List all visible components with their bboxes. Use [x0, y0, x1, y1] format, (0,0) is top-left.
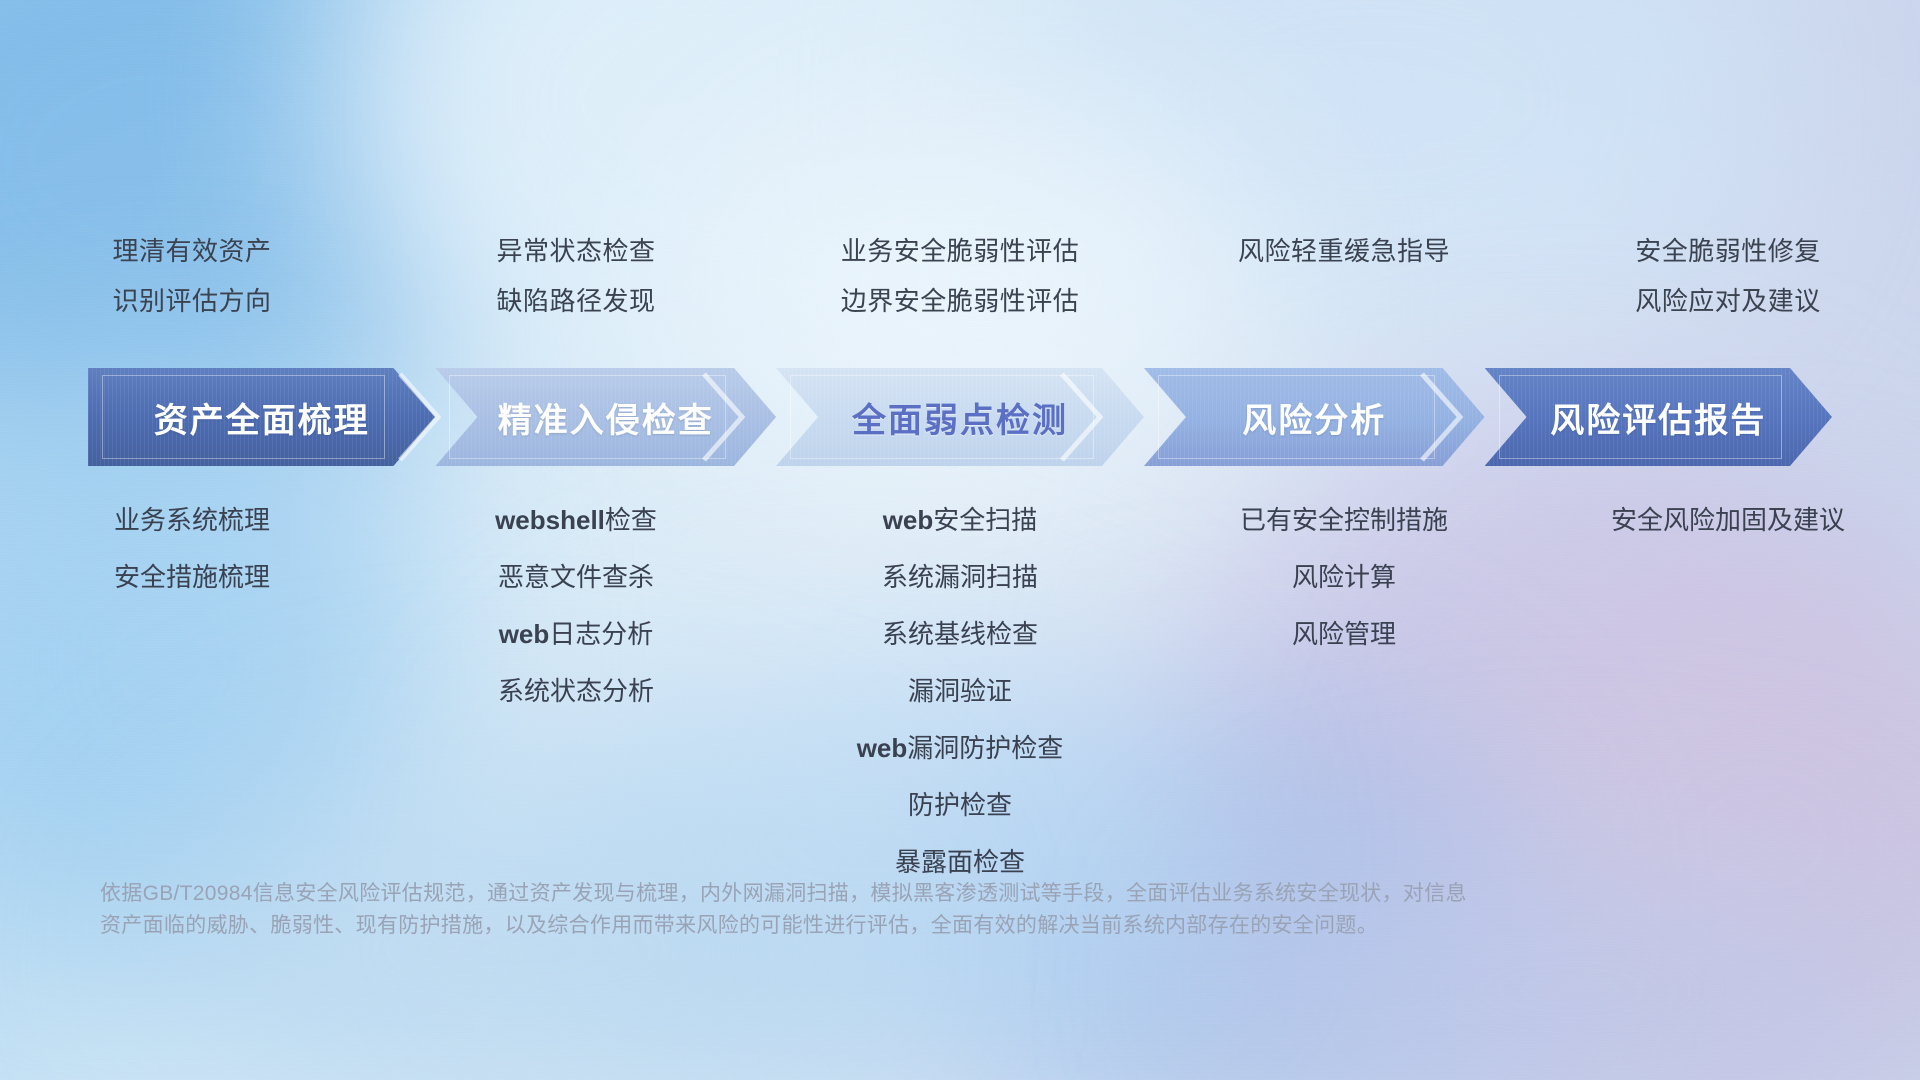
top-point: 异常状态检查 — [384, 226, 768, 276]
stage-arrow-intrusion-check[interactable]: 精准入侵检查 — [435, 368, 776, 466]
bottom-point-text: 安全扫描 — [933, 505, 1037, 535]
top-point: 业务安全脆弱性评估 — [768, 226, 1152, 276]
footer-description: 依据GB/T20984信息安全风险评估规范，通过资产发现与梳理，内外网漏洞扫描，… — [100, 878, 1820, 942]
bottom-point: 漏洞验证 — [768, 671, 1152, 711]
bottom-point: 风险计算 — [1152, 557, 1536, 597]
top-point: 边界安全脆弱性评估 — [768, 276, 1152, 326]
bottom-point: 安全措施梳理 — [0, 557, 384, 597]
top-point: 风险轻重缓急指导 — [1152, 226, 1536, 276]
bottom-point-text: 检查 — [605, 505, 657, 535]
stage-label: 资产全面梳理 — [154, 393, 370, 442]
top-point: 理清有效资产 — [0, 226, 384, 276]
bottom-point: webshell检查 — [384, 500, 768, 540]
bottom-point-text: 系统状态分析 — [498, 676, 654, 706]
bottom-point-text: 已有安全控制措施 — [1240, 505, 1448, 535]
bottom-descriptors-intrusion-check: webshell检查 恶意文件查杀 web日志分析 系统状态分析 — [384, 500, 768, 899]
bottom-point: 防护检查 — [768, 785, 1152, 825]
top-descriptor-row: 理清有效资产 识别评估方向 异常状态检查 缺陷路径发现 业务安全脆弱性评估 边界… — [0, 226, 1920, 326]
bottom-point-text: 漏洞防护检查 — [907, 733, 1063, 763]
bottom-point: 系统基线检查 — [768, 614, 1152, 654]
bottom-point: 业务系统梳理 — [0, 500, 384, 540]
stage-arrow-weakness-detection[interactable]: 全面弱点检测 — [776, 368, 1144, 466]
bottom-point: 系统状态分析 — [384, 671, 768, 711]
process-diagram: 理清有效资产 识别评估方向 异常状态检查 缺陷路径发现 业务安全脆弱性评估 边界… — [0, 0, 1920, 1080]
top-point: 风险应对及建议 — [1536, 276, 1920, 326]
bottom-point-text: 防护检查 — [908, 790, 1012, 820]
bottom-point-prefix: web — [499, 619, 550, 649]
bottom-point-text: 系统漏洞扫描 — [882, 562, 1038, 592]
bottom-point-text: 暴露面检查 — [895, 847, 1025, 877]
bottom-point: 系统漏洞扫描 — [768, 557, 1152, 597]
footer-line: 依据GB/T20984信息安全风险评估规范，通过资产发现与梳理，内外网漏洞扫描，… — [100, 878, 1820, 910]
bottom-point-text: 安全措施梳理 — [114, 562, 270, 592]
bottom-descriptor-row: 业务系统梳理 安全措施梳理 webshell检查 恶意文件查杀 web日志分析 … — [0, 500, 1920, 899]
top-descriptors-weakness-detection: 业务安全脆弱性评估 边界安全脆弱性评估 — [768, 226, 1152, 326]
stage-arrow-assessment-report[interactable]: 风险评估报告 — [1485, 368, 1832, 466]
bottom-descriptors-risk-analysis: 已有安全控制措施 风险计算 风险管理 — [1152, 500, 1536, 899]
stage-label: 精准入侵检查 — [498, 393, 714, 442]
bottom-point: web漏洞防护检查 — [768, 728, 1152, 768]
top-descriptors-risk-analysis: 风险轻重缓急指导 — [1152, 226, 1536, 326]
top-descriptors-assessment-report: 安全脆弱性修复 风险应对及建议 — [1536, 226, 1920, 326]
top-descriptors-asset-inventory: 理清有效资产 识别评估方向 — [0, 226, 384, 326]
stage-label: 风险分析 — [1242, 393, 1386, 442]
bottom-point-text: 恶意文件查杀 — [498, 562, 654, 592]
bottom-point: 安全风险加固及建议 — [1536, 500, 1920, 540]
bottom-descriptors-asset-inventory: 业务系统梳理 安全措施梳理 — [0, 500, 384, 899]
bottom-point: 风险管理 — [1152, 614, 1536, 654]
top-point: 识别评估方向 — [0, 276, 384, 326]
bottom-point: 暴露面检查 — [768, 842, 1152, 882]
bottom-point-prefix: webshell — [495, 505, 605, 535]
bottom-descriptors-weakness-detection: web安全扫描 系统漏洞扫描 系统基线检查 漏洞验证 web漏洞防护检查 防护检… — [768, 500, 1152, 899]
bottom-point-text: 日志分析 — [549, 619, 653, 649]
top-descriptors-intrusion-check: 异常状态检查 缺陷路径发现 — [384, 226, 768, 326]
bottom-point: 已有安全控制措施 — [1152, 500, 1536, 540]
top-point: 缺陷路径发现 — [384, 276, 768, 326]
stage-arrow-risk-analysis[interactable]: 风险分析 — [1144, 368, 1485, 466]
bottom-point: 恶意文件查杀 — [384, 557, 768, 597]
stage-label: 风险评估报告 — [1550, 393, 1766, 442]
bottom-point-text: 风险管理 — [1292, 619, 1396, 649]
bottom-point-text: 系统基线检查 — [882, 619, 1038, 649]
stage-arrow-asset-inventory[interactable]: 资产全面梳理 — [88, 368, 435, 466]
footer-line: 资产面临的威胁、脆弱性、现有防护措施，以及综合作用而带来风险的可能性进行评估，全… — [100, 910, 1820, 942]
stage-arrow-band: 资产全面梳理 精准入侵检查 全面弱点检测 风险分析 风险评估报告 — [88, 368, 1832, 466]
bottom-point-prefix: web — [883, 505, 934, 535]
top-point: 安全脆弱性修复 — [1536, 226, 1920, 276]
bottom-point-prefix: web — [857, 733, 908, 763]
bottom-point: web日志分析 — [384, 614, 768, 654]
bottom-point-text: 安全风险加固及建议 — [1611, 505, 1845, 535]
bottom-point-text: 漏洞验证 — [908, 676, 1012, 706]
stage-label: 全面弱点检测 — [852, 393, 1068, 442]
bottom-point-text: 风险计算 — [1292, 562, 1396, 592]
bottom-point-text: 业务系统梳理 — [114, 505, 270, 535]
bottom-point: web安全扫描 — [768, 500, 1152, 540]
bottom-descriptors-assessment-report: 安全风险加固及建议 — [1536, 500, 1920, 899]
